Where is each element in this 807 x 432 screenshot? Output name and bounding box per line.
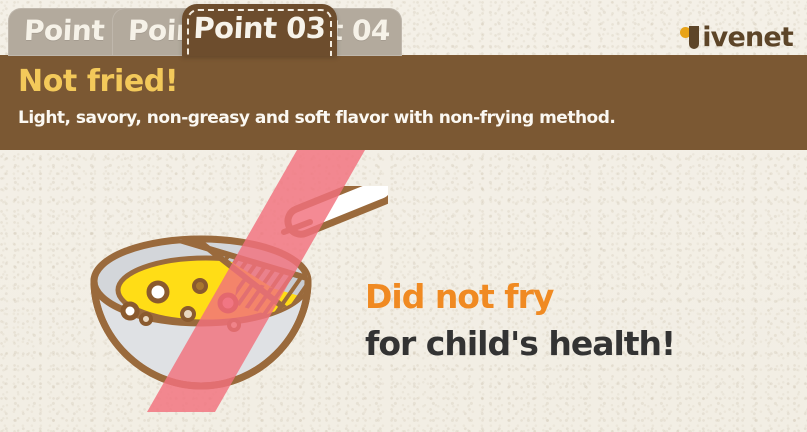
frying-wok-illustration <box>88 186 388 408</box>
banner-heading: Not fried! <box>18 63 807 101</box>
brand-logo-text: ivenet <box>702 24 793 51</box>
main-message-line2: for child's health! <box>365 322 675 366</box>
tab-point-03-label: Point 03 <box>182 4 337 52</box>
banner-subheading: Light, savory, non-greasy and soft flavo… <box>18 105 807 131</box>
ivenet-dot-icon <box>680 26 701 49</box>
slide-canvas: Point Point t 04 Point 03 ivenet Not fri… <box>0 0 807 432</box>
main-message: Did not fry for child's health! <box>365 276 675 366</box>
brand-logo[interactable]: ivenet <box>680 22 793 52</box>
main-message-line1: Did not fry <box>365 276 675 318</box>
tab-point-03[interactable]: Point 03 <box>182 4 337 56</box>
headline-banner: Not fried! Light, savory, non-greasy and… <box>0 55 807 150</box>
